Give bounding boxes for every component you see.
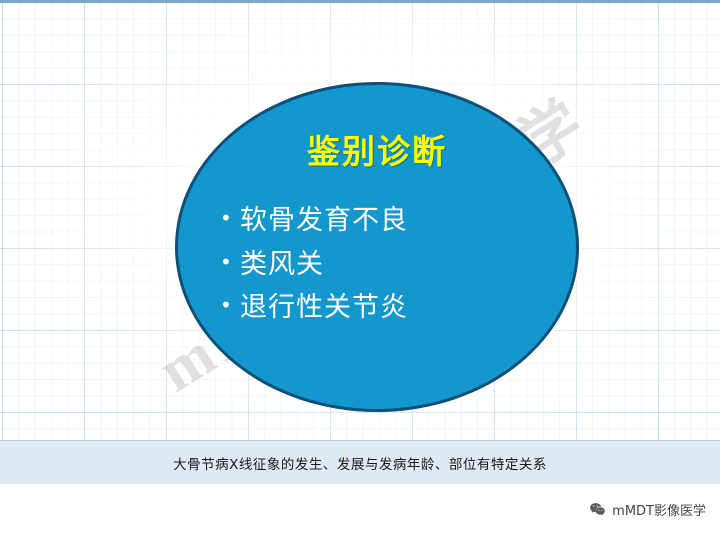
list-item-label: 退行性关节炎 <box>240 286 408 330</box>
footer-brand: mMDT影像医学 <box>589 500 706 519</box>
list-item: • 类风关 <box>220 243 576 287</box>
caption-band: 大骨节病X线征象的发生、发展与发病年龄、部位有特定关系 <box>0 440 720 485</box>
list-item: • 软骨发育不良 <box>220 199 576 243</box>
footer: mMDT影像医学 <box>0 484 720 540</box>
list-item-label: 类风关 <box>240 243 324 287</box>
bullet-dot-icon: • <box>220 286 240 324</box>
footer-brand-label: mMDT影像医学 <box>612 500 706 519</box>
top-border-rule <box>0 0 720 3</box>
wechat-icon <box>589 501 606 518</box>
ellipse-content: 鉴别诊断 • 软骨发育不良 • 类风关 • 退行性关节炎 <box>178 85 576 409</box>
bullet-dot-icon: • <box>220 243 240 281</box>
bullet-dot-icon: • <box>220 199 240 237</box>
slide-title: 鉴别诊断 <box>307 125 447 173</box>
list-item: • 退行性关节炎 <box>220 286 576 330</box>
caption-text: 大骨节病X线征象的发生、发展与发病年龄、部位有特定关系 <box>173 453 547 473</box>
bullet-list: • 软骨发育不良 • 类风关 • 退行性关节炎 <box>178 199 576 330</box>
slide: mMDT影像医学 鉴别诊断 • 软骨发育不良 • 类风关 • 退行性关节炎 大骨… <box>0 0 720 540</box>
list-item-label: 软骨发育不良 <box>240 199 408 243</box>
content-ellipse: 鉴别诊断 • 软骨发育不良 • 类风关 • 退行性关节炎 <box>175 82 579 412</box>
